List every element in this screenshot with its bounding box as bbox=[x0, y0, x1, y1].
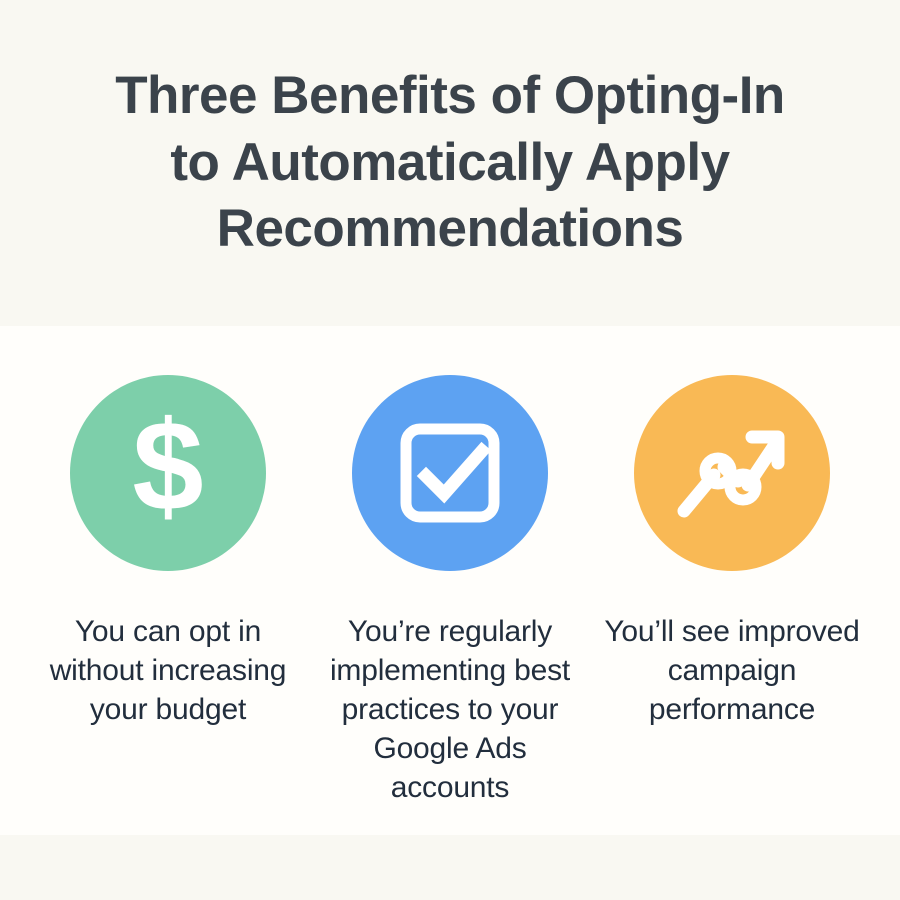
benefit-item-budget: $ You can opt in without increasing your… bbox=[34, 375, 302, 729]
dollar-sign-icon: $ bbox=[108, 413, 228, 533]
icon-circle-green: $ bbox=[70, 375, 266, 571]
benefit-item-best-practices: You’re regularly implementing best pract… bbox=[316, 375, 584, 807]
benefits-row: $ You can opt in without increasing your… bbox=[34, 375, 866, 807]
page-title: Three Benefits of Opting-In to Automatic… bbox=[90, 63, 810, 263]
icon-circle-orange bbox=[634, 375, 830, 571]
trending-up-arrow-icon bbox=[670, 417, 794, 529]
footer-band bbox=[0, 835, 900, 900]
svg-text:$: $ bbox=[132, 413, 203, 533]
benefit-caption: You can opt in without increasing your b… bbox=[36, 571, 300, 729]
benefit-item-performance: You’ll see improved campaign performance bbox=[598, 375, 866, 729]
benefit-caption: You’ll see improved campaign performance bbox=[600, 571, 864, 729]
infographic-canvas: Three Benefits of Opting-In to Automatic… bbox=[0, 0, 900, 900]
benefits-section: $ You can opt in without increasing your… bbox=[0, 326, 900, 835]
checked-checkbox-icon bbox=[394, 417, 506, 529]
icon-circle-blue bbox=[352, 375, 548, 571]
benefit-caption: You’re regularly implementing best pract… bbox=[318, 571, 582, 807]
header-band: Three Benefits of Opting-In to Automatic… bbox=[0, 0, 900, 326]
